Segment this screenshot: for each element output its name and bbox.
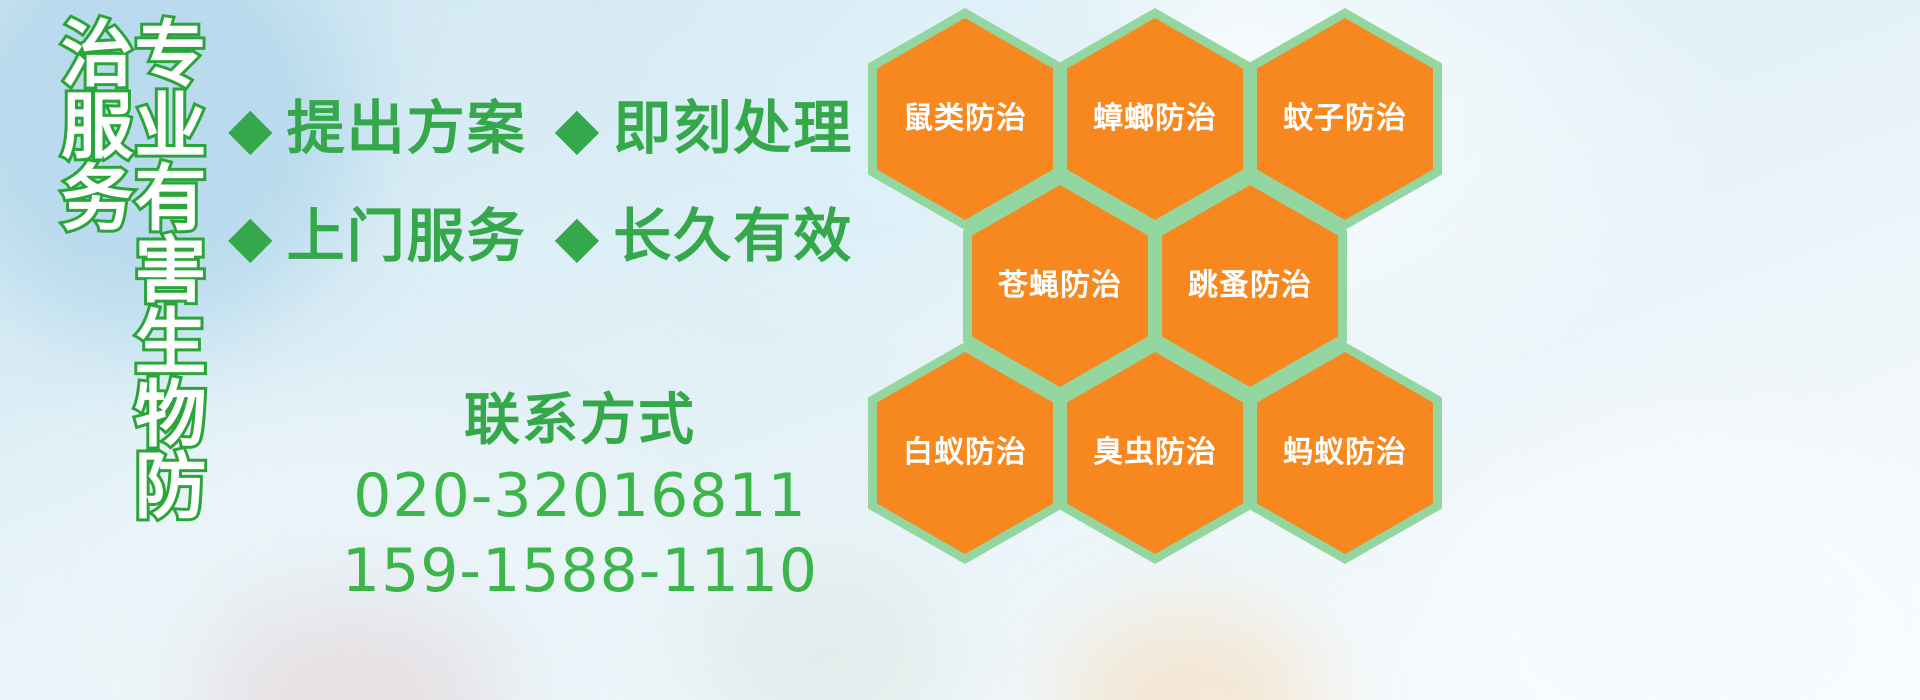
feature-label: 长久有效 (613, 207, 853, 265)
hex-inner: 鼠类防治 (877, 18, 1053, 220)
hex-inner: 蟑螂防治 (1067, 18, 1243, 220)
feature-item-propose-plan: ◆ 提出方案 (228, 99, 527, 157)
feature-item-door-to-door-service: ◆ 上门服务 (228, 207, 527, 265)
feature-label: 上门服务 (287, 207, 527, 265)
contact-phone-landline[interactable]: 020-32016811 (300, 459, 860, 534)
background-blob (200, 600, 500, 700)
service-label: 鼠类防治 (903, 104, 1027, 134)
diamond-bullet-icon: ◆ (228, 99, 273, 157)
hex-inner: 臭虫防治 (1067, 352, 1243, 554)
vertical-headline: 专业有害生物防治服务 (104, 16, 200, 564)
contact-block: 联系方式 020-32016811 159-1588-1110 (300, 392, 860, 609)
service-label: 跳蚤防治 (1188, 271, 1312, 301)
pest-control-banner: 专业有害生物防治服务 ◆ 提出方案 ◆ 即刻处理 ◆ 上门服务 ◆ 长久有效 (0, 0, 1920, 700)
feature-label: 提出方案 (287, 99, 527, 157)
background-blob (1060, 610, 1320, 700)
hex-inner: 苍蝇防治 (972, 185, 1148, 387)
diamond-bullet-icon: ◆ (228, 207, 273, 265)
service-label: 蚂蚁防治 (1283, 438, 1407, 468)
diamond-bullet-icon: ◆ (555, 99, 600, 157)
contact-phone-mobile[interactable]: 159-1588-1110 (300, 534, 860, 609)
service-label: 臭虫防治 (1093, 438, 1217, 468)
service-honeycomb: 鼠类防治 蟑螂防治 蚊子防治 苍蝇防治 跳蚤防治 白蚁防治 (860, 0, 1480, 570)
service-label: 蚊子防治 (1283, 104, 1407, 134)
service-label: 白蚁防治 (903, 438, 1027, 468)
hex-inner: 跳蚤防治 (1162, 185, 1338, 387)
diamond-bullet-icon: ◆ (555, 207, 600, 265)
feature-label: 即刻处理 (613, 99, 853, 157)
service-label: 蟑螂防治 (1093, 104, 1217, 134)
background-blob (1430, 430, 1920, 700)
feature-item-immediate-handling: ◆ 即刻处理 (555, 99, 854, 157)
service-label: 苍蝇防治 (998, 271, 1122, 301)
feature-row: ◆ 提出方案 ◆ 即刻处理 (228, 74, 868, 182)
feature-list: ◆ 提出方案 ◆ 即刻处理 ◆ 上门服务 ◆ 长久有效 (228, 74, 868, 290)
hex-inner: 蚂蚁防治 (1257, 352, 1433, 554)
feature-row: ◆ 上门服务 ◆ 长久有效 (228, 182, 868, 290)
hex-inner: 白蚁防治 (877, 352, 1053, 554)
feature-item-long-lasting-effect: ◆ 长久有效 (555, 207, 854, 265)
contact-title: 联系方式 (300, 392, 860, 451)
hex-inner: 蚊子防治 (1257, 18, 1433, 220)
